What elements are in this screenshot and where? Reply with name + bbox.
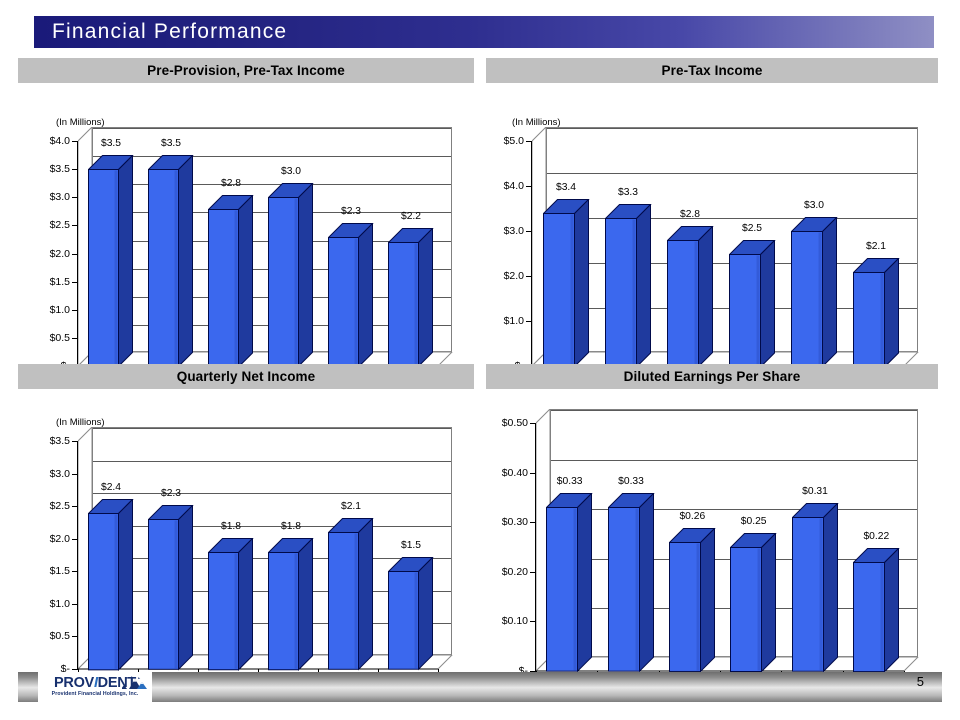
chart-title-0: Pre-Provision, Pre-Tax Income <box>18 58 474 83</box>
chart-title-2: Quarterly Net Income <box>18 364 474 389</box>
gridline <box>551 460 917 461</box>
logo-tagline: Provident Financial Holdings, Inc. <box>52 692 139 697</box>
bar-q2fy23 <box>88 499 134 671</box>
bar-value-label: $2.4 <box>80 482 142 493</box>
y-axis-tick <box>72 254 78 255</box>
y-axis-tick <box>72 506 78 507</box>
bar-value-label: $2.8 <box>659 209 722 220</box>
bar-value-label: $3.0 <box>783 200 846 211</box>
y-axis-label: $0.30 <box>482 516 528 528</box>
bar-q1fy24 <box>268 538 314 671</box>
y-axis-label: $1.5 <box>26 276 70 288</box>
bar-q1fy24 <box>268 183 314 368</box>
bar-value-label: $0.22 <box>845 531 908 542</box>
bar-value-label: $2.5 <box>721 223 784 234</box>
y-axis-tick <box>72 225 78 226</box>
y-axis-tick <box>72 197 78 198</box>
gridline <box>547 218 917 219</box>
company-logo: PROVIDENT Provident Financial Holdings, … <box>38 672 152 702</box>
bar-value-label: $2.1 <box>320 501 382 512</box>
bar-q3fy24 <box>388 557 434 671</box>
y-axis-3 <box>535 423 536 671</box>
bar-value-label: $2.1 <box>845 241 908 252</box>
bar-value-label: $3.4 <box>535 182 598 193</box>
page-number: 5 <box>917 674 924 689</box>
footer-bar <box>18 672 942 702</box>
chart-plot-area-3: $-$0.10$0.20$0.30$0.40$0.50$0.33Q2 FY23$… <box>486 389 942 664</box>
bar-q3fy23 <box>608 493 655 673</box>
bar-q3fy24 <box>388 228 434 368</box>
y-axis-label: $2.5 <box>26 500 70 512</box>
y-axis-tick <box>526 276 532 277</box>
bar-value-label: $2.3 <box>320 206 382 217</box>
y-axis-label: $3.5 <box>26 435 70 447</box>
bar-value-label: $0.25 <box>722 516 785 527</box>
bar-value-label: $3.5 <box>140 138 202 149</box>
bar-value-label: $3.3 <box>597 187 660 198</box>
bar-value-label: $0.33 <box>538 476 601 487</box>
y-axis-label: $1.0 <box>26 598 70 610</box>
gridline <box>93 461 451 462</box>
y-axis-1 <box>531 141 532 366</box>
mountain-icon <box>122 676 148 692</box>
slide-root: Financial Performance Pre-Provision, Pre… <box>0 0 960 720</box>
y-axis-label: $0.10 <box>482 615 528 627</box>
y-axis-label: $3.0 <box>26 191 70 203</box>
y-axis-label: $0.20 <box>482 566 528 578</box>
y-axis-label: $3.5 <box>26 163 70 175</box>
y-axis-label: $0.5 <box>26 630 70 642</box>
chart-panel-pre-tax-income: Pre-Tax Income(In Millions)$-$1.0$2.0$3.… <box>486 58 942 358</box>
bar-q1fy24 <box>730 533 777 673</box>
bar-value-label: $0.33 <box>600 476 663 487</box>
bar-q1fy24 <box>729 240 776 369</box>
y-axis-label: $2.5 <box>26 219 70 231</box>
bar-q2fy23 <box>546 493 593 673</box>
y-axis-label: $0.50 <box>482 417 528 429</box>
y-axis-label: $0.40 <box>482 467 528 479</box>
y-axis-tick <box>530 423 536 424</box>
y-axis-tick <box>530 572 536 573</box>
y-axis-label: $2.0 <box>26 533 70 545</box>
gridline <box>547 173 917 174</box>
y-axis-tick <box>72 474 78 475</box>
bar-q3fy23 <box>605 204 652 369</box>
bar-q4fy23 <box>667 226 714 368</box>
slide-title: Financial Performance <box>34 20 287 44</box>
y-axis-label: $1.0 <box>480 315 524 327</box>
y-axis-tick <box>530 522 536 523</box>
bar-q3fy24 <box>853 258 900 369</box>
y-axis-tick <box>72 441 78 442</box>
gridline <box>551 509 917 510</box>
y-axis-tick <box>526 141 532 142</box>
y-axis-tick <box>530 473 536 474</box>
bar-q2fy23 <box>543 199 590 368</box>
chart-title-3: Diluted Earnings Per Share <box>486 364 938 389</box>
bar-q2fy24 <box>791 217 838 368</box>
chart-plot-area-1: (In Millions)$-$1.0$2.0$3.0$4.0$5.0$3.4Q… <box>486 83 942 358</box>
y-axis-tick <box>72 310 78 311</box>
bar-q4fy23 <box>208 195 254 369</box>
chart-plot-area-0: (In Millions)$-$0.5$1.0$1.5$2.0$2.5$3.0$… <box>18 83 474 358</box>
bar-value-label: $0.31 <box>784 486 847 497</box>
chart-title-1: Pre-Tax Income <box>486 58 938 83</box>
y-axis-label: $4.0 <box>26 135 70 147</box>
bar-q3fy24 <box>853 548 900 673</box>
y-axis-label: $2.0 <box>26 248 70 260</box>
y-axis-2 <box>77 441 78 669</box>
bar-q2fy24 <box>328 518 374 671</box>
y-axis-tick <box>72 338 78 339</box>
y-axis-label: $0.5 <box>26 332 70 344</box>
bar-value-label: $2.2 <box>380 211 442 222</box>
y-axis-label: $5.0 <box>480 135 524 147</box>
chart-panel-pre-provision-pre-tax-income: Pre-Provision, Pre-Tax Income(In Million… <box>18 58 474 358</box>
y-axis-tick <box>72 539 78 540</box>
y-axis-label: $3.0 <box>26 468 70 480</box>
bar-value-label: $1.8 <box>260 521 322 532</box>
bar-q3fy23 <box>148 155 194 368</box>
bar-q2fy23 <box>88 155 134 368</box>
y-axis-tick <box>72 604 78 605</box>
y-axis-label: $2.0 <box>480 270 524 282</box>
y-axis-tick <box>72 571 78 572</box>
slide-title-bar: Financial Performance <box>34 16 934 48</box>
logo-word-part-1: PROV <box>54 675 94 691</box>
y-axis-tick <box>72 636 78 637</box>
bar-value-label: $1.5 <box>380 540 442 551</box>
y-axis-label: $1.0 <box>26 304 70 316</box>
y-axis-tick <box>526 231 532 232</box>
bar-value-label: $0.26 <box>661 511 724 522</box>
bar-value-label: $3.5 <box>80 138 142 149</box>
gridline <box>547 128 917 129</box>
y-axis-label: $1.5 <box>26 565 70 577</box>
chart-plot-area-2: (In Millions)$-$0.5$1.0$1.5$2.0$2.5$3.0$… <box>18 389 474 664</box>
bar-value-label: $3.0 <box>260 166 322 177</box>
y-axis-tick <box>72 282 78 283</box>
bar-value-label: $1.8 <box>200 521 262 532</box>
bar-value-label: $2.3 <box>140 488 202 499</box>
bar-q2fy24 <box>328 223 374 368</box>
gridline <box>93 428 451 429</box>
y-axis-tick <box>72 141 78 142</box>
chart-panel-quarterly-net-income: Quarterly Net Income(In Millions)$-$0.5$… <box>18 364 474 664</box>
gridline <box>551 410 917 411</box>
y-axis-tick <box>526 321 532 322</box>
y-axis-tick <box>72 169 78 170</box>
gridline <box>93 156 451 157</box>
y-axis-tick <box>526 186 532 187</box>
y-axis-tick <box>530 621 536 622</box>
bar-q2fy24 <box>792 503 839 673</box>
bar-q4fy23 <box>669 528 716 673</box>
y-axis-label: $3.0 <box>480 225 524 237</box>
bar-value-label: $2.8 <box>200 178 262 189</box>
chart-panel-diluted-earnings-per-share: Diluted Earnings Per Share$-$0.10$0.20$0… <box>486 364 942 664</box>
gridline <box>93 128 451 129</box>
bar-q4fy23 <box>208 538 254 671</box>
bar-q3fy23 <box>148 505 194 671</box>
y-axis-label: $4.0 <box>480 180 524 192</box>
